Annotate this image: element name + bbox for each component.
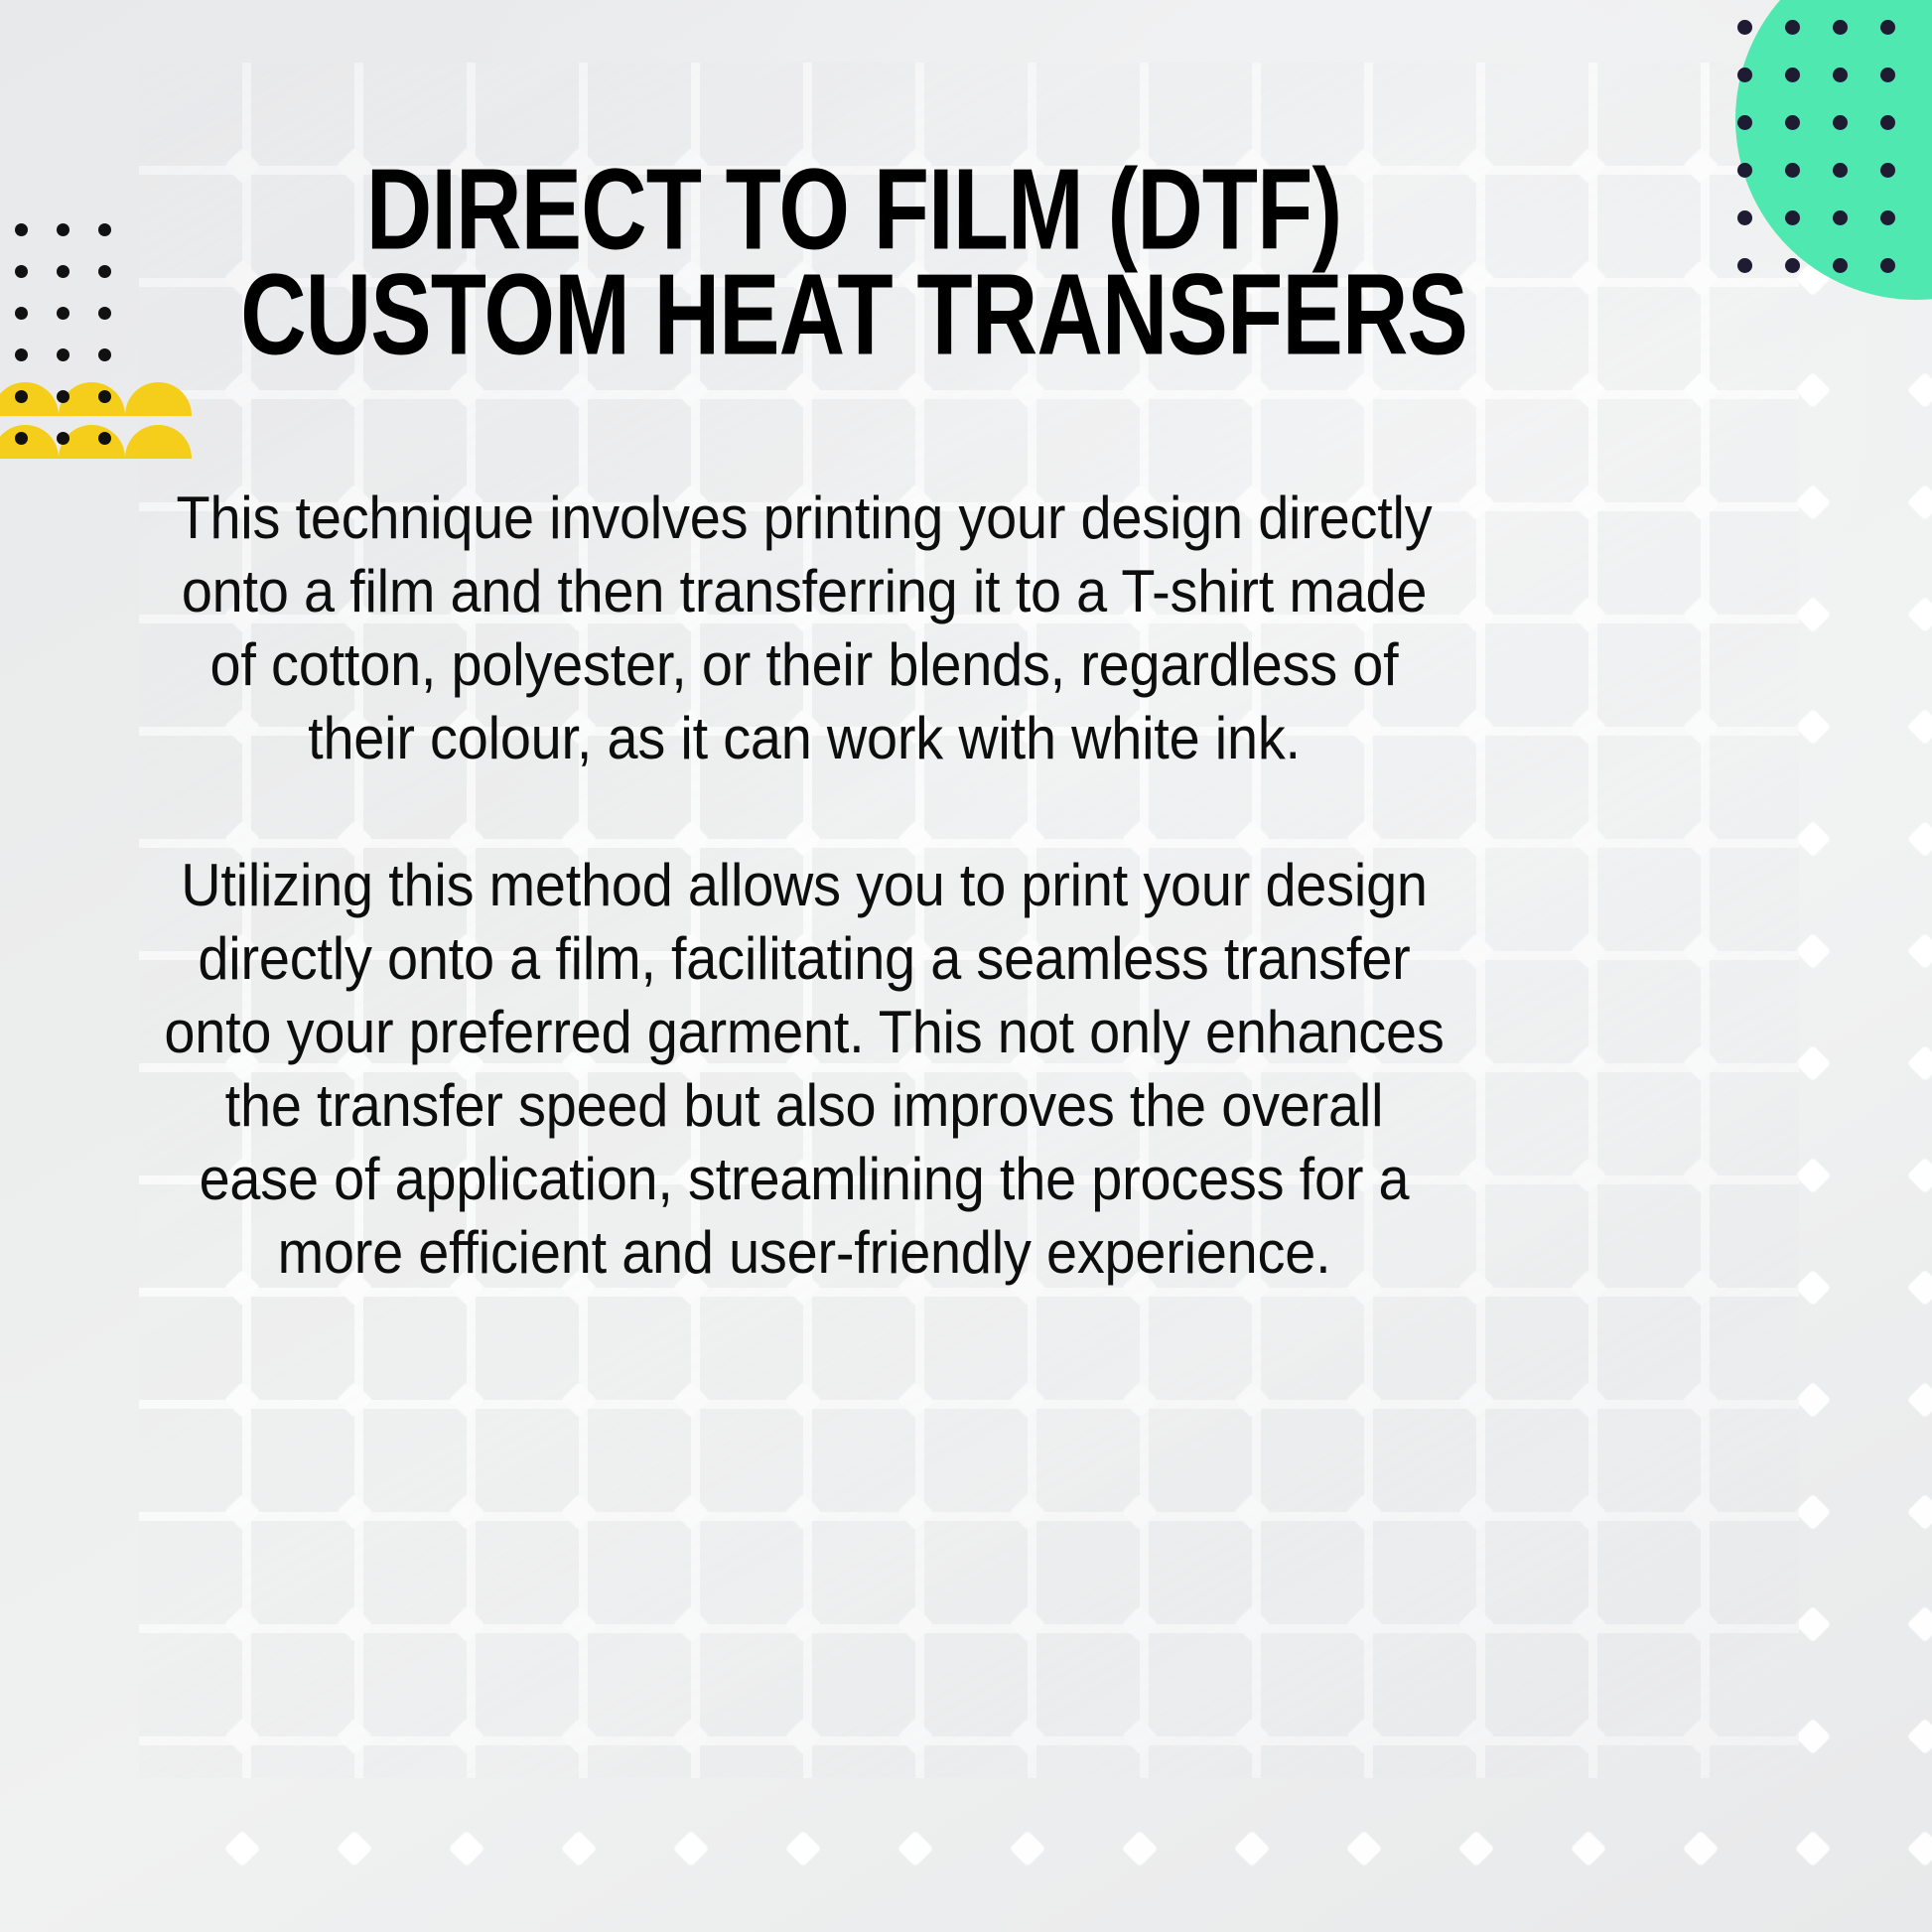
decorative-dot <box>1737 68 1752 82</box>
grid-diamond <box>785 1831 822 1867</box>
decorative-dot <box>1833 210 1848 225</box>
grid-diamond <box>1571 821 1607 858</box>
yellow-semicircle <box>0 425 59 459</box>
grid-diamond <box>897 1494 934 1531</box>
grid-diamond <box>1907 1831 1932 1867</box>
grid-diamond <box>1010 1382 1046 1419</box>
grid-diamond <box>1346 1719 1383 1755</box>
grid-diamond <box>449 1606 485 1643</box>
grid-diamond <box>1683 1831 1720 1867</box>
grid-diamond <box>1683 484 1720 521</box>
yellow-semicircle <box>0 382 59 416</box>
decorative-dot <box>1785 20 1800 35</box>
decorative-dot <box>1785 163 1800 178</box>
grid-diamond <box>897 1831 934 1867</box>
grid-diamond <box>1683 1719 1720 1755</box>
grid-diamond <box>1010 1494 1046 1531</box>
grid-diamond <box>1683 821 1720 858</box>
grid-diamond <box>1122 1606 1159 1643</box>
grid-diamond <box>1458 1382 1495 1419</box>
grid-diamond <box>224 1494 261 1531</box>
grid-diamond <box>1795 1719 1832 1755</box>
grid-diamond <box>1683 597 1720 633</box>
grid-diamond <box>561 1606 598 1643</box>
grid-diamond <box>897 1606 934 1643</box>
decorative-dot <box>1880 258 1895 273</box>
grid-diamond <box>1907 709 1932 746</box>
decorative-dot <box>98 348 111 361</box>
grid-diamond <box>1571 709 1607 746</box>
grid-diamond <box>1907 484 1932 521</box>
grid-diamond <box>449 1831 485 1867</box>
grid-diamond <box>337 1382 373 1419</box>
grid-diamond <box>1571 1719 1607 1755</box>
grid-diamond <box>1795 1382 1832 1419</box>
grid-diamond <box>1795 372 1832 409</box>
decorative-dot <box>57 265 69 278</box>
decorative-dot <box>1833 163 1848 178</box>
decorative-dot <box>57 390 69 403</box>
grid-diamond <box>337 1719 373 1755</box>
grid-diamond <box>1571 148 1607 185</box>
grid-diamond <box>1571 372 1607 409</box>
grid-diamond <box>1571 597 1607 633</box>
grid-diamond <box>1795 1494 1832 1531</box>
grid-diamond <box>1346 1382 1383 1419</box>
grid-diamond <box>1795 1045 1832 1082</box>
grid-diamond <box>1907 1270 1932 1307</box>
grid-diamond <box>1234 1606 1271 1643</box>
grid-diamond <box>785 1606 822 1643</box>
grid-diamond <box>897 1382 934 1419</box>
grid-diamond <box>1907 1719 1932 1755</box>
grid-diamond <box>1683 260 1720 297</box>
grid-diamond <box>337 1606 373 1643</box>
decorative-dot <box>1737 20 1752 35</box>
grid-diamond <box>224 1606 261 1643</box>
grid-diamond <box>1571 933 1607 970</box>
grid-diamond <box>1346 1831 1383 1867</box>
mint-circle-decoration <box>1735 0 1932 300</box>
decorative-dot <box>57 223 69 236</box>
decorative-dot <box>15 348 28 361</box>
grid-diamond <box>1122 1719 1159 1755</box>
grid-diamond <box>1458 1719 1495 1755</box>
grid-diamond <box>224 1382 261 1419</box>
grid-diamond <box>337 1494 373 1531</box>
grid-diamond <box>1571 1606 1607 1643</box>
grid-diamond <box>561 1719 598 1755</box>
grid-diamond <box>1346 1494 1383 1531</box>
grid-diamond <box>1683 372 1720 409</box>
decorative-dot <box>1785 210 1800 225</box>
grid-diamond <box>785 1494 822 1531</box>
decorative-dot <box>1737 258 1752 273</box>
grid-diamond <box>1907 821 1932 858</box>
grid-diamond <box>224 1719 261 1755</box>
grid-diamond <box>785 1719 822 1755</box>
decorative-dot <box>1785 68 1800 82</box>
grid-diamond <box>1234 1719 1271 1755</box>
decorative-dot <box>15 223 28 236</box>
decorative-dot <box>57 432 69 445</box>
grid-diamond <box>1683 933 1720 970</box>
grid-diamond <box>1010 1831 1046 1867</box>
decorative-dot <box>98 432 111 445</box>
grid-diamond <box>1907 1158 1932 1194</box>
grid-diamond <box>1346 1606 1383 1643</box>
decorative-dot <box>1785 115 1800 130</box>
grid-diamond <box>1907 1606 1932 1643</box>
grid-diamond <box>1795 709 1832 746</box>
grid-diamond <box>897 1719 934 1755</box>
grid-diamond <box>1571 1045 1607 1082</box>
decorative-dot <box>1737 115 1752 130</box>
grid-diamond <box>1683 709 1720 746</box>
grid-diamond <box>1571 1158 1607 1194</box>
grid-diamond <box>1010 1606 1046 1643</box>
grid-diamond <box>673 1494 710 1531</box>
page-title: DIRECT TO FILM (DTF) CUSTOM HEAT TRANSFE… <box>159 147 1549 357</box>
grid-diamond <box>1795 1831 1832 1867</box>
grid-diamond <box>1571 1270 1607 1307</box>
body-paragraph-2-container: Utilizing this method allows you to prin… <box>109 849 1499 1290</box>
grid-diamond <box>224 1831 261 1867</box>
grid-diamond <box>1795 1606 1832 1643</box>
grid-diamond <box>785 1382 822 1419</box>
grid-diamond <box>1795 933 1832 970</box>
grid-diamond <box>1907 1382 1932 1419</box>
grid-diamond <box>1122 1831 1159 1867</box>
decorative-dot <box>1880 163 1895 178</box>
body-paragraph-1: This technique involves printing your de… <box>158 482 1450 775</box>
grid-diamond <box>1010 1719 1046 1755</box>
grid-diamond <box>1458 1831 1495 1867</box>
decorative-dot <box>1833 68 1848 82</box>
grid-diamond <box>1122 1382 1159 1419</box>
grid-diamond <box>1571 484 1607 521</box>
grid-diamond <box>1907 933 1932 970</box>
grid-diamond <box>1683 1382 1720 1419</box>
grid-diamond <box>561 1831 598 1867</box>
grid-diamond <box>1234 1382 1271 1419</box>
grid-diamond <box>1458 1606 1495 1643</box>
decorative-dot <box>57 348 69 361</box>
grid-diamond <box>1683 1494 1720 1531</box>
decorative-dot <box>1880 210 1895 225</box>
grid-diamond <box>673 1831 710 1867</box>
grid-diamond <box>1458 1494 1495 1531</box>
grid-diamond <box>1683 1158 1720 1194</box>
title-line-2: CUSTOM HEAT TRANSFERS <box>201 252 1507 376</box>
grid-diamond <box>337 1831 373 1867</box>
grid-diamond <box>1122 1494 1159 1531</box>
decorative-dot <box>1737 163 1752 178</box>
grid-diamond <box>1795 821 1832 858</box>
decorative-dot <box>15 265 28 278</box>
decorative-dot <box>1833 20 1848 35</box>
grid-diamond <box>1907 372 1932 409</box>
decorative-dot <box>1833 115 1848 130</box>
grid-diamond <box>1795 1270 1832 1307</box>
yellow-semicircle <box>125 425 192 459</box>
grid-diamond <box>1907 597 1932 633</box>
body-paragraph-2: Utilizing this method allows you to prin… <box>158 849 1450 1290</box>
grid-diamond <box>673 1606 710 1643</box>
grid-diamond <box>1571 1831 1607 1867</box>
body-paragraph-1-container: This technique involves printing your de… <box>109 482 1499 775</box>
grid-diamond <box>1683 1045 1720 1082</box>
grid-diamond <box>1571 260 1607 297</box>
grid-diamond <box>1683 148 1720 185</box>
decorative-dot <box>98 265 111 278</box>
grid-diamond <box>673 1719 710 1755</box>
decorative-dot <box>1833 258 1848 273</box>
decorative-dot <box>98 223 111 236</box>
yellow-semicircle <box>125 382 192 416</box>
grid-diamond <box>1795 597 1832 633</box>
grid-diamond <box>673 1382 710 1419</box>
decorative-dot <box>15 307 28 320</box>
grid-diamond <box>1683 1606 1720 1643</box>
grid-diamond <box>449 1719 485 1755</box>
poster-canvas: DIRECT TO FILM (DTF) CUSTOM HEAT TRANSFE… <box>0 0 1932 1932</box>
decorative-dot <box>1785 258 1800 273</box>
grid-diamond <box>1795 484 1832 521</box>
yellow-semicircle <box>59 425 125 459</box>
decorative-dot <box>57 307 69 320</box>
grid-diamond <box>449 1382 485 1419</box>
grid-diamond <box>561 1494 598 1531</box>
decorative-dot <box>1880 115 1895 130</box>
grid-diamond <box>561 1382 598 1419</box>
grid-diamond <box>1907 1494 1932 1531</box>
grid-diamond <box>1571 1494 1607 1531</box>
grid-diamond <box>449 1494 485 1531</box>
decorative-dot <box>15 390 28 403</box>
grid-diamond <box>1234 1831 1271 1867</box>
decorative-dot <box>98 390 111 403</box>
grid-diamond <box>1795 1158 1832 1194</box>
decorative-dot <box>1880 68 1895 82</box>
decorative-dot <box>15 432 28 445</box>
grid-diamond <box>1234 1494 1271 1531</box>
decorative-dot <box>98 307 111 320</box>
grid-diamond <box>1907 1045 1932 1082</box>
decorative-dot <box>1737 210 1752 225</box>
grid-diamond <box>1683 1270 1720 1307</box>
grid-diamond <box>1571 1382 1607 1419</box>
decorative-dot <box>1880 20 1895 35</box>
